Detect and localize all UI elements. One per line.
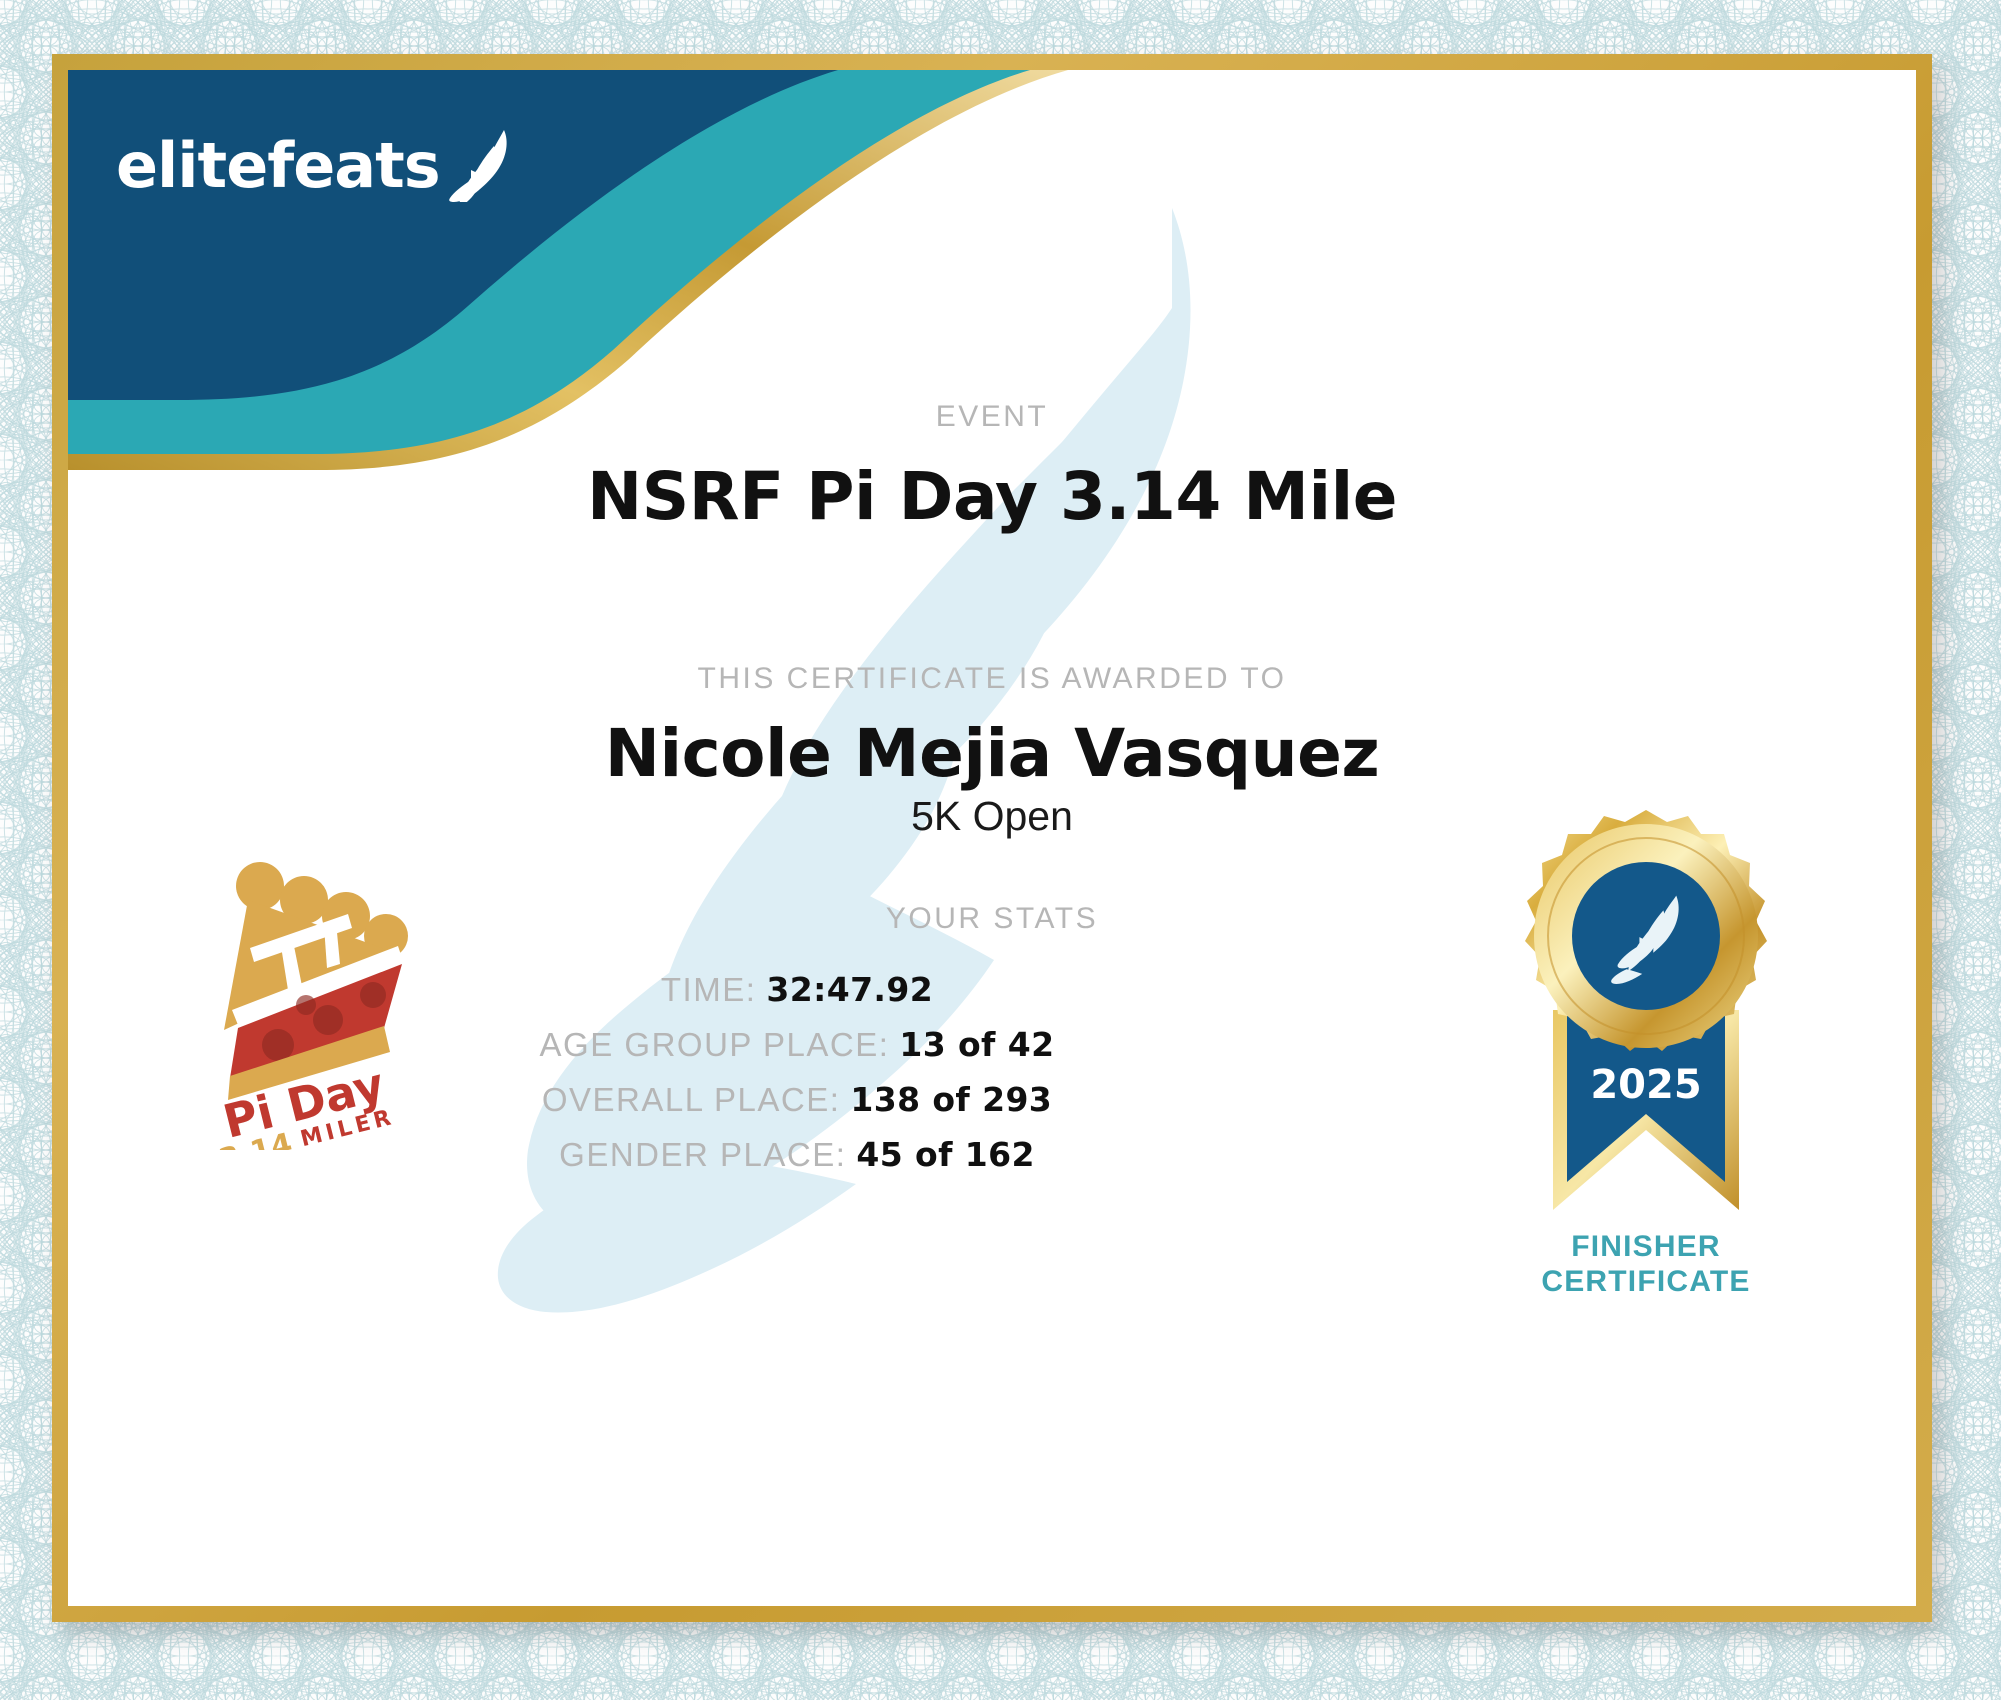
stat-label: TIME:	[661, 971, 757, 1008]
recipient-name: Nicole Mejia Vasquez	[68, 715, 1916, 792]
stat-row: TIME:32:47.92	[68, 970, 1916, 1009]
certificate-card: elitefeats	[52, 54, 1932, 1622]
stat-value: 138 of 293	[850, 1080, 1052, 1119]
stat-value: 13 of 42	[899, 1025, 1054, 1064]
event-name: NSRF Pi Day 3.14 Mile	[68, 458, 1916, 535]
stat-label: OVERALL PLACE:	[542, 1081, 841, 1118]
certificate-page: elitefeats	[0, 0, 2001, 1700]
awarded-to-label: THIS CERTIFICATE IS AWARDED TO	[68, 662, 1916, 696]
stats-list: TIME:32:47.92AGE GROUP PLACE:13 of 42OVE…	[68, 970, 1916, 1190]
stat-row: OVERALL PLACE:138 of 293	[68, 1080, 1916, 1119]
stat-row: AGE GROUP PLACE:13 of 42	[68, 1025, 1916, 1064]
stat-label: GENDER PLACE:	[559, 1136, 846, 1173]
stat-value: 32:47.92	[766, 970, 933, 1009]
certificate-inner-page: elitefeats	[68, 70, 1916, 1606]
event-kicker-label: EVENT	[68, 400, 1916, 434]
stat-label: AGE GROUP PLACE:	[540, 1026, 890, 1063]
your-stats-label: YOUR STATS	[68, 902, 1916, 936]
stat-value: 45 of 162	[856, 1135, 1034, 1174]
certificate-content: EVENT NSRF Pi Day 3.14 Mile THIS CERTIFI…	[68, 70, 1916, 1606]
recipient-division: 5K Open	[68, 793, 1916, 840]
stat-row: GENDER PLACE:45 of 162	[68, 1135, 1916, 1174]
